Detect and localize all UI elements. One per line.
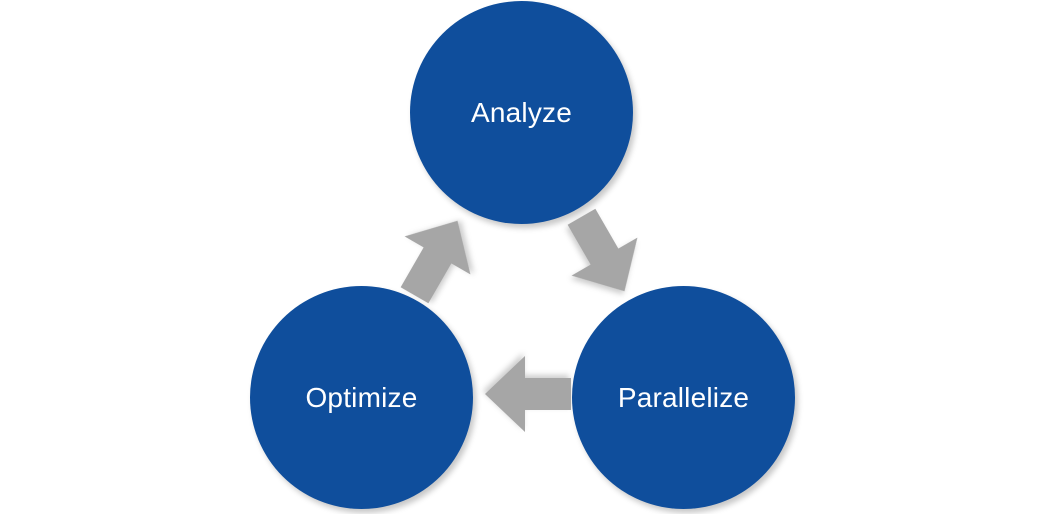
cycle-node-parallelize[interactable]: Parallelize [572,286,795,509]
cycle-node-analyze-label: Analyze [471,99,572,127]
cycle-node-parallelize-label: Parallelize [618,384,749,412]
cycle-node-optimize-label: Optimize [305,384,417,412]
arrow-parallelize-to-optimize [485,352,571,436]
diagram-canvas: Analyze Parallelize Optimize [0,0,1044,514]
cycle-node-analyze[interactable]: Analyze [410,1,633,224]
cycle-node-optimize[interactable]: Optimize [250,286,473,509]
